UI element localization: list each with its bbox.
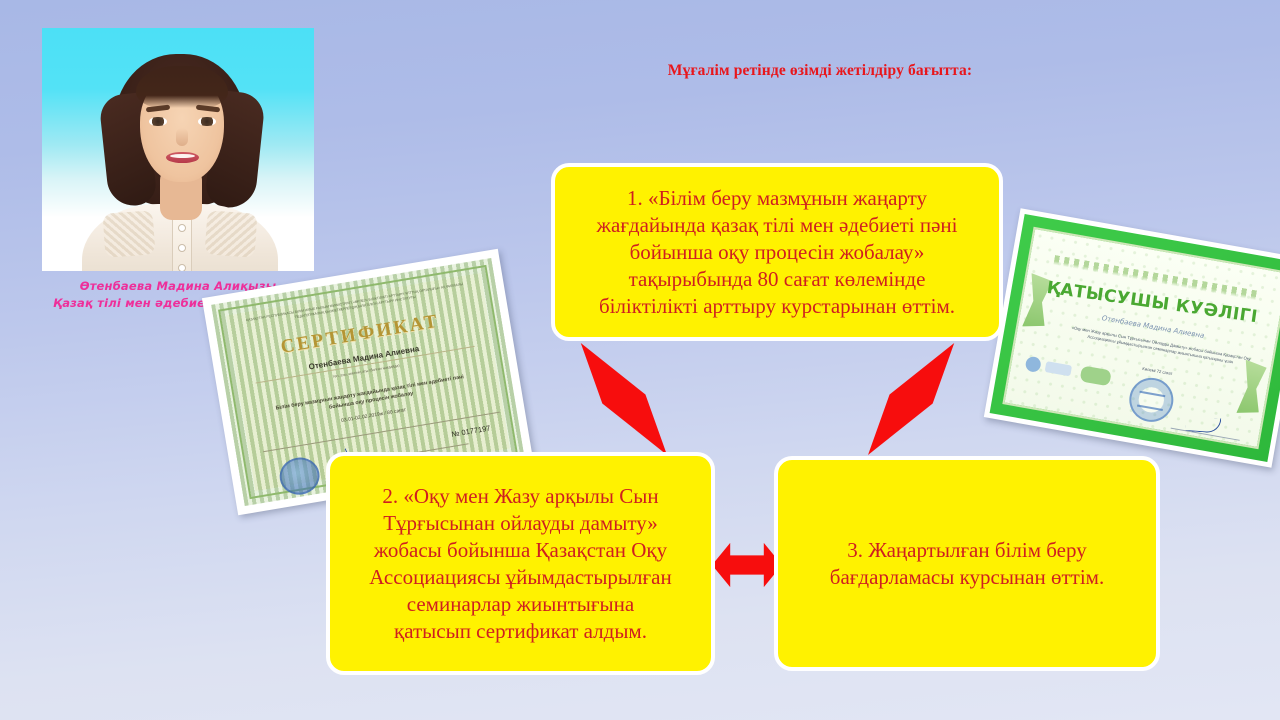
- arrow-box1-to-box3-icon: [868, 343, 966, 455]
- portrait-lace-left: [103, 210, 156, 257]
- page-title: Мұғалім ретінде өзімді жетілдіру бағытта…: [440, 62, 1200, 80]
- portrait-lace-right: [205, 210, 258, 257]
- certificate-right-logo-icon: [1080, 365, 1112, 386]
- certificate-right-seal: [1126, 374, 1177, 425]
- portrait-nose: [176, 128, 188, 146]
- portrait-button: [178, 224, 186, 232]
- certificate-right-image: ҚАТЫСУШЫ КУӘЛІГІ Отенбаева Мадина Алиевн…: [984, 208, 1280, 467]
- portrait-eye-left: [149, 117, 167, 126]
- content-box-2: 2. «Оқу мен Жазу арқылы Сын Тұрғысынан о…: [326, 452, 715, 675]
- certificate-right-frame: ҚАТЫСУШЫ КУӘЛІГІ Отенбаева Мадина Алиевн…: [1002, 227, 1280, 449]
- portrait-button: [178, 244, 186, 252]
- certificate-left-seal: [277, 455, 323, 498]
- portrait-fringe: [136, 66, 228, 108]
- portrait-teeth: [170, 154, 195, 158]
- portrait-eye-right: [198, 117, 216, 126]
- certificate-left-number: № 0177197: [451, 424, 491, 439]
- arrow-box1-to-box2-icon: [569, 343, 667, 455]
- portrait-button: [178, 264, 186, 271]
- teacher-photo: [42, 28, 314, 271]
- content-box-1: 1. «Білім беру мазмұнын жаңарту жағдайын…: [551, 163, 1003, 341]
- slide-canvas: Өтенбаева Мадина Алиқызы Қазақ тілі мен …: [0, 0, 1280, 720]
- double-headed-arrow-icon: [712, 541, 782, 589]
- certificate-right-logo-icon: [1045, 361, 1073, 376]
- content-box-3: 3. Жаңартылған білім беру бағдарламасы к…: [774, 456, 1160, 671]
- certificate-right-border: ҚАТЫСУШЫ КУӘЛІГІ Отенбаева Мадина Алиевн…: [990, 214, 1280, 462]
- certificate-right-logo-icon: [1025, 356, 1042, 373]
